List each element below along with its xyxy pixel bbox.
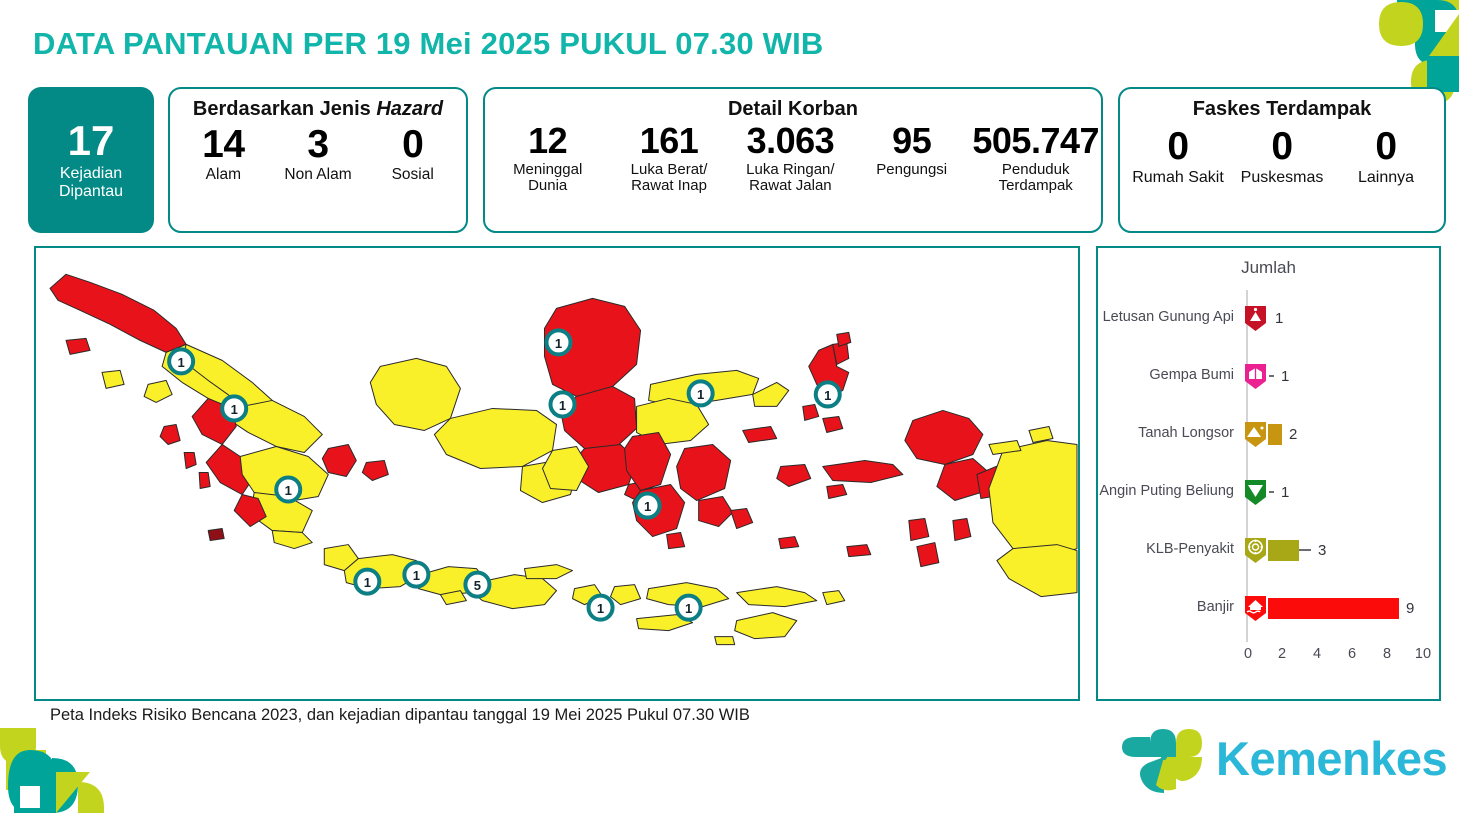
region-rote	[715, 637, 735, 645]
region-flores	[737, 587, 817, 607]
region-morotai	[837, 332, 851, 346]
metric-penduduk-value: 505.747	[972, 123, 1099, 159]
region-papua-main	[989, 440, 1077, 558]
svg-text:1: 1	[285, 483, 292, 498]
korban-card-title: Detail Korban	[485, 98, 1101, 121]
region-ternate	[803, 404, 819, 420]
region-wetar	[847, 545, 871, 557]
hazard-title-italic: Hazard	[376, 98, 443, 120]
region-sulbar	[625, 432, 671, 490]
chart-val-gempa-bumi: 1	[1281, 368, 1289, 385]
metric-sosial: 0 Sosial	[365, 125, 460, 184]
kejadian-value: 17	[68, 120, 115, 162]
region-obi	[823, 416, 843, 432]
metric-puskesmas: 0 Puskesmas	[1230, 127, 1334, 186]
chart-xtick-0: 0	[1244, 646, 1252, 662]
map-marker: 1	[550, 392, 574, 416]
metric-luka-ringan-value: 3.063	[730, 123, 851, 159]
metric-rumah-sakit: 0 Rumah Sakit	[1126, 127, 1230, 186]
region-seram	[823, 460, 903, 482]
chart-row-angin-puting-beliung: Angin Puting Beliung 1	[1098, 464, 1439, 520]
stats-row: 17 Kejadian Dipantau Berdasarkan Jenis H…	[28, 87, 1432, 233]
kemenkes-wordmark: Kemenkes	[1216, 731, 1447, 786]
chart-val-banjir: 9	[1406, 600, 1414, 617]
flood-icon	[1242, 595, 1269, 622]
card-berdasarkan-jenis-hazard: Berdasarkan Jenis Hazard 14 Alam 3 Non A…	[168, 87, 468, 233]
region-alor	[823, 591, 845, 605]
map-marker: 1	[589, 596, 613, 620]
volcano-icon	[1242, 305, 1269, 332]
landslide-icon	[1242, 421, 1269, 448]
chart-row-letusan-gunung-api: Letusan Gunung Api 1	[1098, 290, 1439, 346]
region-kalteng	[434, 408, 556, 468]
region-sula	[743, 426, 777, 442]
metric-meninggal-value: 12	[487, 123, 608, 159]
region-bangka	[322, 444, 356, 476]
chart-row-tanah-longsor: Tanah Longsor 2	[1098, 406, 1439, 462]
hazard-count-chart-panel: Jumlah Letusan Gunung Api 1 Gempa Bumi 1	[1096, 246, 1441, 701]
region-selayar	[667, 533, 685, 549]
map-marker: 1	[636, 494, 660, 518]
metric-puskesmas-value: 0	[1230, 127, 1334, 166]
metric-lainnya-value: 0	[1334, 127, 1438, 166]
metric-luka-ringan: 3.063 Luka Ringan/Rawat Jalan	[730, 123, 851, 194]
earthquake-icon	[1242, 363, 1269, 390]
region-sabang	[66, 338, 90, 354]
chart-cat-letusan-gunung-api: Letusan Gunung Api	[1098, 310, 1240, 326]
region-madura	[524, 565, 572, 579]
metric-lainnya-label: Lainnya	[1334, 169, 1438, 186]
map-marker: 1	[222, 396, 246, 420]
region-enggano	[208, 529, 224, 541]
metric-meninggal-dunia: 12 MeninggalDunia	[487, 123, 608, 194]
map-marker: 1	[404, 563, 428, 587]
region-banda	[779, 537, 799, 549]
map-marker: 1	[169, 349, 193, 373]
chart-xtick-6: 6	[1348, 646, 1356, 662]
metric-luka-berat-value: 161	[608, 123, 729, 159]
metric-sosial-value: 0	[365, 125, 460, 164]
region-buton	[731, 509, 753, 529]
chart-row-klb-penyakit: KLB-Penyakit 3	[1098, 522, 1439, 578]
region-kei	[909, 519, 929, 541]
svg-text:1: 1	[413, 568, 420, 583]
card-detail-korban: Detail Korban 12 MeninggalDunia 161 Luka…	[483, 87, 1103, 233]
svg-text:1: 1	[824, 388, 831, 403]
svg-text:1: 1	[685, 601, 692, 616]
region-kalbar	[370, 358, 460, 430]
metric-luka-berat-label2: Rawat Inap	[631, 177, 707, 194]
svg-text:1: 1	[697, 387, 704, 402]
metric-penduduk-label1: Penduduk	[1002, 161, 1070, 178]
map-marker: 1	[677, 596, 701, 620]
metric-meninggal-label2: Dunia	[528, 177, 567, 194]
chart-cat-banjir: Banjir	[1098, 600, 1240, 616]
chart-cat-klb-penyakit: KLB-Penyakit	[1098, 542, 1240, 558]
metric-rumah-sakit-value: 0	[1126, 127, 1230, 166]
metric-alam: 14 Alam	[176, 125, 271, 184]
map-marker: 5	[465, 573, 489, 597]
map-panel[interactable]: 1 1 1 1 1 5 1 1 1 1 1 1 1	[34, 246, 1080, 701]
region-tanimbar	[917, 543, 939, 567]
chart-title: Jumlah	[1098, 258, 1439, 278]
region-biak	[1029, 426, 1053, 442]
svg-text:1: 1	[364, 575, 371, 590]
svg-text:5: 5	[474, 578, 481, 593]
chart-body: Letusan Gunung Api 1 Gempa Bumi 1 Ta	[1098, 286, 1439, 678]
chart-cat-tanah-longsor: Tanah Longsor	[1098, 426, 1240, 442]
region-ambon	[827, 485, 847, 499]
region-papua-s	[997, 545, 1077, 597]
svg-text:1: 1	[597, 601, 604, 616]
indonesia-risk-map[interactable]: 1 1 1 1 1 5 1 1 1 1 1 1 1	[36, 248, 1078, 699]
metric-lainnya: 0 Lainnya	[1334, 127, 1438, 186]
chart-x-axis: 0 2 4 6 8 10	[1246, 646, 1422, 670]
metric-rumah-sakit-label: Rumah Sakit	[1126, 169, 1230, 186]
map-marker: 1	[816, 382, 840, 406]
region-nias	[144, 380, 172, 402]
chart-val-klb-penyakit: 3	[1318, 542, 1326, 559]
page-title: DATA PANTAUAN PER 19 Mei 2025 PUKUL 07.3…	[33, 26, 824, 62]
chart-xtick-4: 4	[1313, 646, 1321, 662]
chart-xtick-8: 8	[1383, 646, 1391, 662]
region-sulut	[753, 382, 789, 406]
metric-non-alam-value: 3	[271, 125, 366, 164]
svg-text:1: 1	[555, 336, 562, 351]
kemenkes-flower-icon	[1120, 723, 1212, 795]
svg-text:1: 1	[231, 402, 238, 417]
svg-text:1: 1	[178, 355, 185, 370]
chart-xtick-10: 10	[1415, 646, 1431, 662]
chart-cat-gempa-bumi: Gempa Bumi	[1098, 368, 1240, 384]
region-sumatra-cap	[272, 531, 312, 549]
metric-penduduk-label2: Terdampak	[999, 177, 1073, 194]
metric-puskesmas-label: Puskesmas	[1230, 169, 1334, 186]
region-papua-barat	[905, 410, 983, 464]
map-marker: 1	[276, 478, 300, 502]
chart-cat-angin-puting-beliung: Angin Puting Beliung	[1098, 484, 1240, 500]
chart-val-tanah-longsor: 2	[1289, 426, 1297, 443]
map-caption: Peta Indeks Risiko Bencana 2023, dan kej…	[50, 706, 750, 725]
metric-penduduk-terdampak: 505.747 PendudukTerdampak	[972, 123, 1099, 194]
hazard-title-plain: Berdasarkan Jenis	[193, 98, 376, 120]
region-timor	[735, 613, 797, 639]
metric-pengungsi: 95 Pengungsi	[851, 123, 972, 178]
kemenkes-logo: Kemenkes	[1120, 723, 1435, 795]
region-mentawai1	[160, 424, 180, 444]
region-mentawai2	[184, 452, 196, 468]
metric-luka-berat: 161 Luka Berat/Rawat Inap	[608, 123, 729, 194]
metric-sosial-label: Sosial	[365, 167, 460, 184]
chart-row-gempa-bumi: Gempa Bumi 1	[1098, 348, 1439, 404]
card-faskes-terdampak: Faskes Terdampak 0 Rumah Sakit 0 Puskesm…	[1118, 87, 1446, 233]
metric-pengungsi-value: 95	[851, 123, 972, 159]
chart-row-banjir: Banjir 9	[1098, 580, 1439, 636]
map-marker: 1	[355, 570, 379, 594]
metric-pengungsi-label1: Pengungsi	[876, 161, 947, 178]
kejadian-label-line2: Dipantau	[59, 183, 123, 200]
metric-non-alam-label: Non Alam	[271, 167, 366, 184]
metric-luka-berat-label1: Luka Berat/	[631, 161, 708, 178]
metric-alam-value: 14	[176, 125, 271, 164]
region-belitung	[362, 460, 388, 480]
chart-val-letusan-gunung-api: 1	[1275, 310, 1283, 327]
disease-outbreak-icon	[1242, 537, 1269, 564]
svg-text:1: 1	[559, 398, 566, 413]
region-simeulue	[102, 370, 124, 388]
kejadian-label-line1: Kejadian	[60, 165, 122, 182]
hazard-card-title: Berdasarkan Jenis Hazard	[170, 98, 466, 121]
map-marker: 1	[546, 330, 570, 354]
decorative-petals-bottom-left	[0, 728, 130, 813]
chart-xtick-2: 2	[1278, 646, 1286, 662]
region-lombok	[611, 585, 641, 605]
region-mentawai3	[199, 472, 210, 488]
metric-luka-ringan-label2: Rawat Jalan	[749, 177, 832, 194]
chart-val-angin-puting-beliung: 1	[1281, 484, 1289, 501]
svg-text:1: 1	[644, 499, 651, 514]
metric-non-alam: 3 Non Alam	[271, 125, 366, 184]
map-marker: 1	[689, 381, 713, 405]
region-aru	[953, 519, 971, 541]
metric-meninggal-label1: Meninggal	[513, 161, 582, 178]
region-sultra	[677, 444, 731, 500]
metric-luka-ringan-label1: Luka Ringan/	[746, 161, 834, 178]
tornado-icon	[1242, 479, 1269, 506]
faskes-card-title: Faskes Terdampak	[1120, 98, 1444, 121]
card-kejadian-dipantau: 17 Kejadian Dipantau	[28, 87, 154, 233]
region-buru	[777, 464, 811, 486]
metric-alam-label: Alam	[176, 167, 271, 184]
region-sultra-2	[699, 497, 733, 527]
